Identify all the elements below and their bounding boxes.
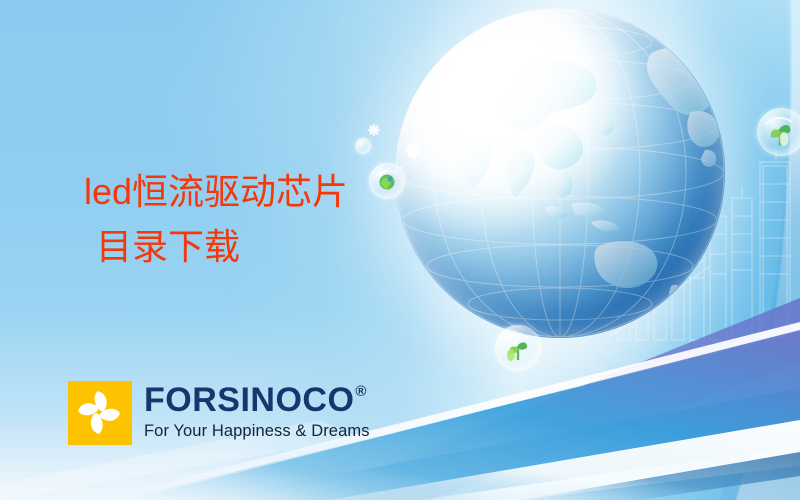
bubble-icon: [369, 163, 405, 199]
brand-logo: FORSINOCO ® For Your Happiness & Dreams: [68, 381, 370, 445]
starburst-flower-icon: [398, 135, 430, 167]
registered-trademark-icon: ®: [355, 384, 367, 399]
headline-line-1: led恒流驱动芯片: [84, 171, 348, 212]
promo-banner: led恒流驱动芯片 目录下载 FORSINOCO ® For Your Happ…: [0, 0, 800, 500]
starburst-flower-icon: [363, 119, 385, 141]
logo-wordmark: FORSINOCO ®: [144, 383, 370, 417]
bubble-icon: [355, 138, 371, 154]
page-title: led恒流驱动芯片 目录下载: [84, 165, 348, 274]
green-sprout-icon: [758, 109, 800, 155]
headline-line-2: 目录下载: [96, 220, 348, 275]
bubble-icon: [757, 108, 800, 156]
mini-globe-icon: [370, 164, 404, 198]
four-petal-pinwheel-icon: [68, 381, 132, 445]
logo-text-block: FORSINOCO ® For Your Happiness & Dreams: [144, 381, 370, 441]
logo-wordmark-text: FORSINOCO: [144, 383, 354, 417]
logo-tagline: For Your Happiness & Dreams: [144, 422, 370, 441]
pinwheel-petals: [68, 381, 132, 445]
